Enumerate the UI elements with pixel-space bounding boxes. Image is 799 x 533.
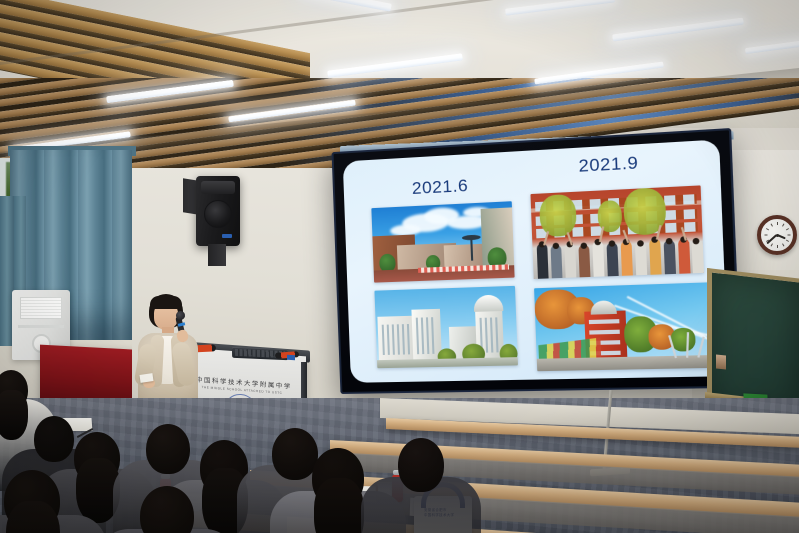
presentation-slide: 2021.6 2021.9 [343,139,729,382]
pa-speaker [196,176,240,246]
clock-tick [777,222,778,225]
presenter-fringe [150,296,182,309]
speaker-badge [222,234,232,238]
slide-label-left: 2021.6 [412,176,469,199]
desk-device [287,355,295,360]
ac-panel-strip [18,325,64,328]
clock-tick [788,235,791,236]
photo-bottom-left [374,286,518,368]
ac-grille [20,297,62,319]
clock-tick [771,223,773,226]
photo-top-right [530,185,704,279]
audience-head [398,438,444,492]
wall-clock [757,215,797,255]
clock-tick [782,243,784,246]
audience-head [34,416,74,462]
speaker-mount [208,244,226,266]
speaker-woofer-icon [204,200,232,228]
clock-tick [777,245,778,248]
clock-tick [771,243,773,246]
audience-long-hair [314,478,364,533]
clock-tick [765,235,768,236]
clock-tick [786,240,789,242]
clock-tick [782,223,784,226]
clock-tick [786,228,789,230]
photo-sculpture [669,332,708,358]
audience-head [272,428,318,480]
audience-long-hair [0,390,28,440]
photo-top-left [371,201,514,282]
clock-tick [766,228,769,230]
photo-ground [377,357,518,368]
clock-center-pin [776,234,779,237]
chalkboard-eraser[interactable] [716,354,726,369]
speaker-horn [201,181,235,194]
slide-label-right: 2021.9 [578,153,639,177]
photo-bottom-right [534,282,716,371]
projection-screen[interactable]: 2021.6 2021.9 [332,128,742,394]
audience-head [146,424,190,474]
classroom-photo: 2021.6 2021.9 [0,0,799,533]
